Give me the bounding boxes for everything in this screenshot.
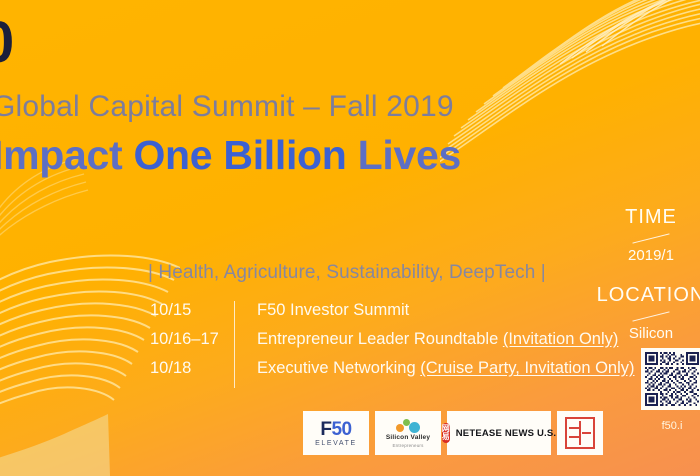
partner-logo-sg [557,411,603,455]
qr-code-icon[interactable] [641,348,700,410]
partner-logo-silicon-valley: Silicon Valley Entrepreneurs [375,411,441,455]
location-value: Silicon [576,325,700,342]
f50-wordmark: F50 [320,420,351,439]
headline-block: Global Capital Summit – Fall 2019 Impact… [0,90,572,180]
topics-line: | Health, Agriculture, Sustainability, D… [148,262,546,284]
schedule-title: Executive Networking (Cruise Party, Invi… [257,359,635,378]
schedule-date: 10/16–17 [150,330,234,349]
event-poster: 0 Global Capital Summit – Fall 2019 Impa… [0,0,700,476]
event-title: Impact One Billion Lives [0,131,572,180]
schedule-date: 10/15 [150,301,234,320]
f50-letter-f: F [320,419,331,440]
event-title-lead: Impact [0,132,133,178]
f50-subtitle: ELEVATE [315,440,357,447]
info-spacer [576,264,700,284]
silicon-valley-name: Silicon Valley [386,434,430,441]
sg-mark-icon [565,417,595,449]
f50-brand-logo: 0 [0,14,12,72]
time-rule [632,233,669,243]
partner-logo-netease: 网易 NETEASE NEWS U.S. [447,411,551,455]
qr-block: f50.i [636,348,700,432]
silicon-valley-subtitle: Entrepreneurs [392,443,423,448]
schedule-title: F50 Investor Summit [257,301,409,320]
netease-name: NETEASE NEWS U.S. [456,428,557,439]
netease-icon: 网易 [442,423,450,443]
schedule-date: 10/18 [150,359,234,378]
partner-logo-f50-elevate: F50 ELEVATE [303,411,369,455]
f50-number: 50 [331,419,351,440]
event-title-tail: Lives [347,132,461,178]
schedule-list: 10/15 F50 Investor Summit 10/16–17 Entre… [150,301,620,388]
schedule-title-text: F50 Investor Summit [257,301,409,319]
schedule-row: 10/18 Executive Networking (Cruise Party… [150,359,620,388]
schedule-title-text: Entrepreneur Leader Roundtable [257,330,503,348]
schedule-title-note: (Cruise Party, Invitation Only) [420,359,634,377]
partner-logo-strip: F50 ELEVATE Silicon Valley Entrepreneurs… [303,411,603,455]
time-value: 2019/1 [576,247,700,264]
event-subtitle: Global Capital Summit – Fall 2019 [0,90,572,125]
schedule-divider [234,301,235,330]
silicon-valley-dots-icon [395,419,421,432]
qr-caption: f50.i [636,420,700,432]
location-label: LOCATION [576,284,700,307]
time-label: TIME [576,206,700,229]
schedule-row: 10/16–17 Entrepreneur Leader Roundtable … [150,330,620,359]
schedule-title: Entrepreneur Leader Roundtable (Invitati… [257,330,618,349]
schedule-divider [234,330,235,359]
event-info-column: TIME 2019/1 LOCATION Silicon [576,206,700,342]
schedule-row: 10/15 F50 Investor Summit [150,301,620,330]
event-title-accent: One Billion [133,132,346,178]
schedule-divider [234,359,235,388]
location-rule [632,311,669,321]
schedule-title-text: Executive Networking [257,359,420,377]
